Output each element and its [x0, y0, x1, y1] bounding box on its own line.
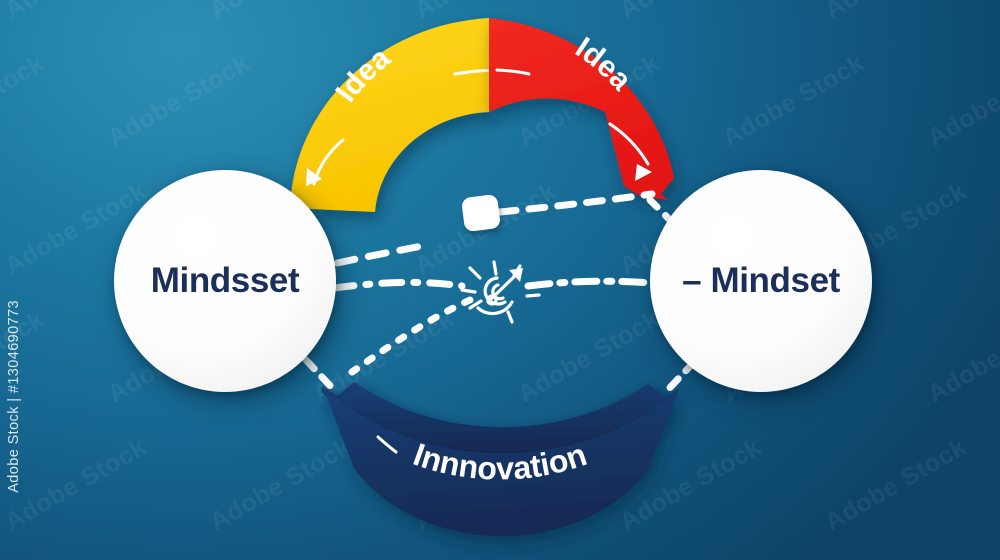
connector-left-to-center [334, 282, 462, 288]
connector-card-to-red-arc [500, 194, 652, 212]
node-circle-right[interactable]: – Mindset [650, 170, 872, 392]
idea-burst-arrow-icon[interactable] [462, 262, 539, 322]
connector-center-to-right [528, 281, 664, 286]
stock-credit-label: Adobe Stock | #1304690773 [6, 300, 22, 493]
connector-center-to-lower-left [352, 300, 470, 372]
node-circle-left[interactable]: Mindsset [114, 170, 336, 392]
node-label-left: Mindsset [151, 261, 300, 301]
connector-left-to-navy [306, 360, 336, 392]
white-rounded-card[interactable] [461, 194, 501, 232]
infographic-canvas: Adobe StockAdobe StockAdobe StockAdobe S… [0, 0, 1000, 560]
node-label-right: – Mindset [682, 261, 840, 301]
arc-segment-idea-yellow[interactable] [290, 18, 489, 212]
connector-right-to-navy [664, 362, 694, 394]
